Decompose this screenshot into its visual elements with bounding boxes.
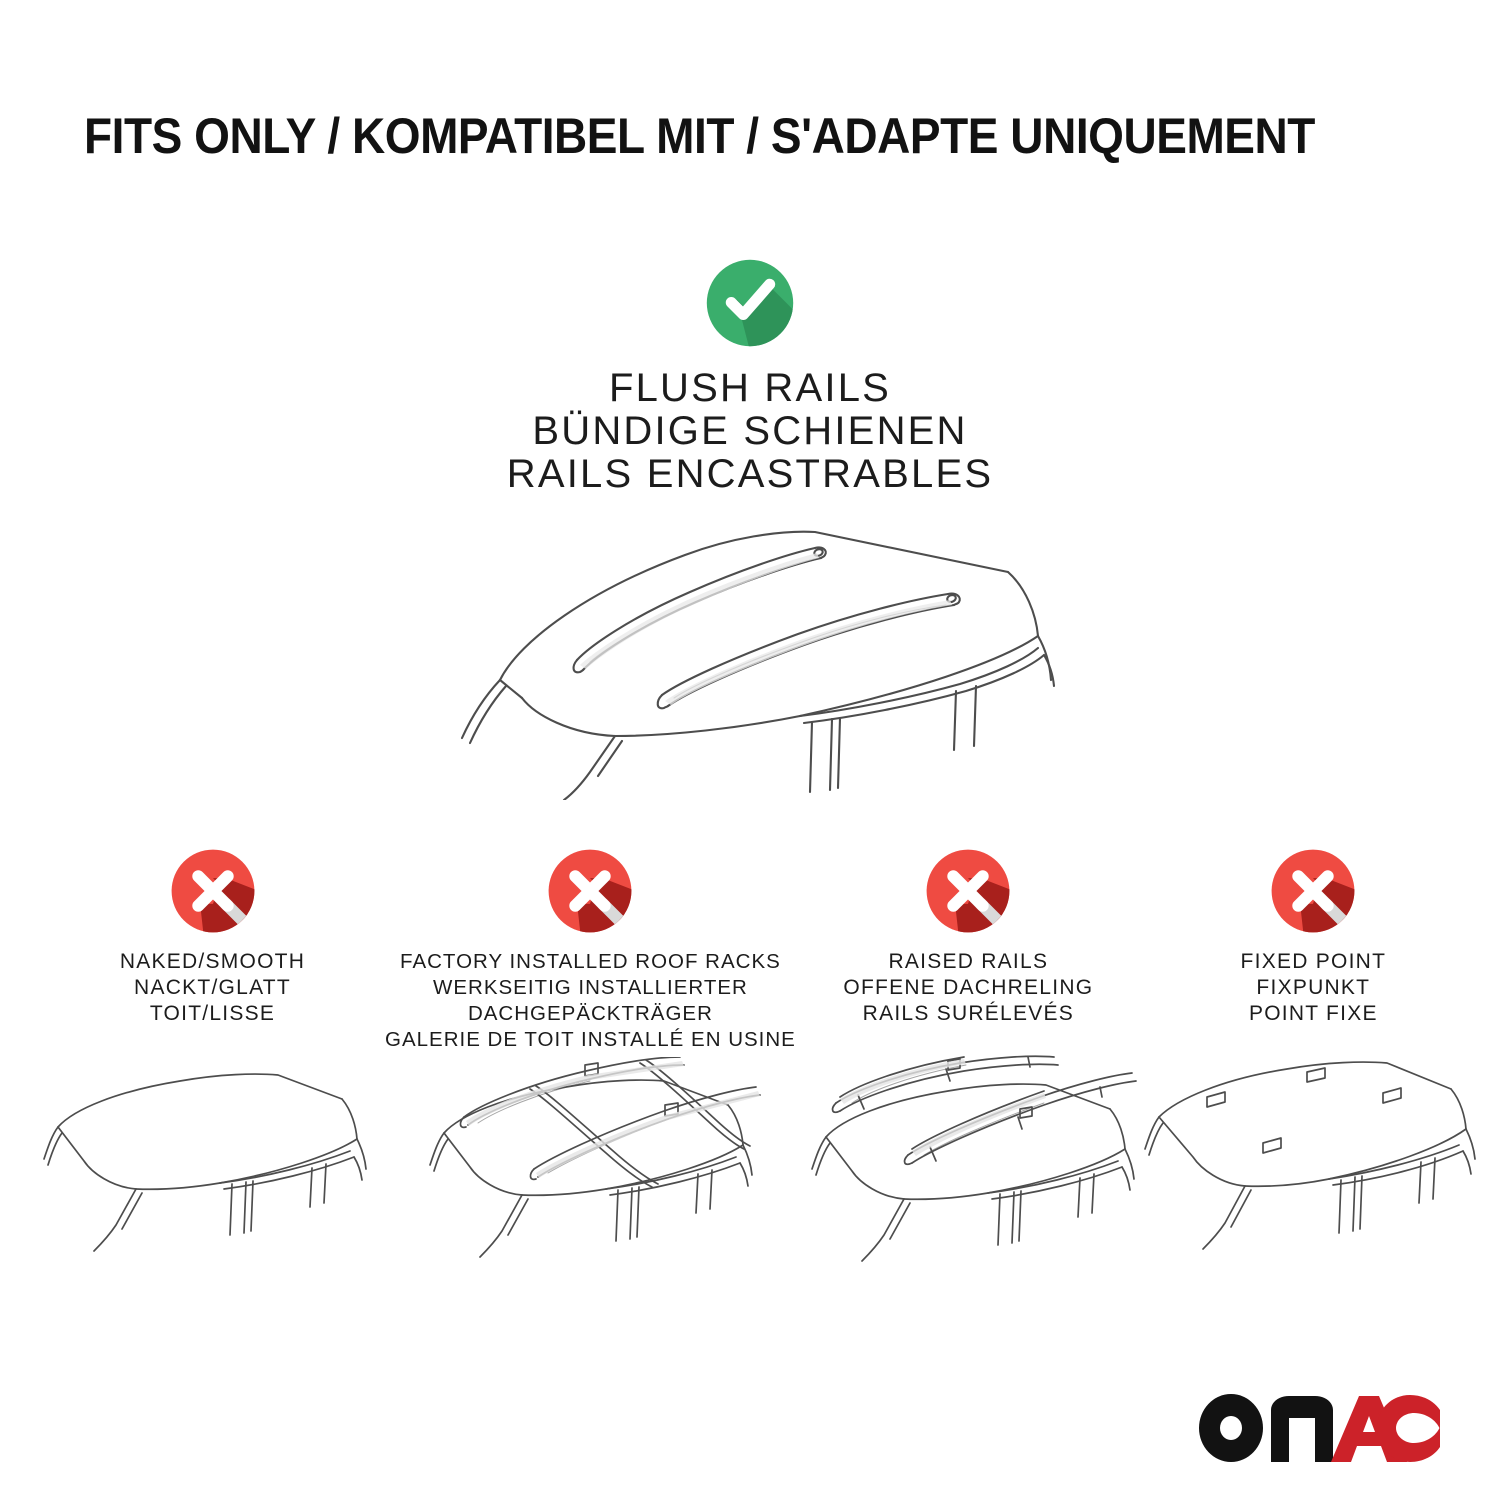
incompatible-item-fixed-point: FIXED POINT FIXPUNKT POINT FIXE <box>1141 845 1486 1297</box>
incompatible-label-de-1: WERKSEITIG INSTALLIERTER <box>385 975 796 1001</box>
car-roof-fixed-point-illustration <box>1141 1055 1486 1290</box>
fitment-compatibility-infographic: FITS ONLY / KOMPATIBEL MIT / S'ADAPTE UN… <box>0 0 1500 1500</box>
incompatible-item-factory-roof-racks: FACTORY INSTALLED ROOF RACKS WERKSEITIG … <box>385 845 796 1297</box>
car-roof-factory-roof-racks-illustration <box>418 1057 763 1292</box>
car-roof-flush-rails-illustration <box>440 510 1060 800</box>
omac-logo <box>1197 1392 1442 1464</box>
incompatible-label-de: OFFENE DACHRELING <box>843 975 1093 1001</box>
compatible-label-de: BÜNDIGE SCHIENEN <box>0 410 1500 453</box>
car-roof-raised-rails-illustration <box>796 1055 1141 1290</box>
page-title: FITS ONLY / KOMPATIBEL MIT / S'ADAPTE UN… <box>84 107 1317 165</box>
incompatible-label-group: RAISED RAILS OFFENE DACHRELING RAILS SUR… <box>843 949 1093 1027</box>
red-x-circle-icon <box>1267 845 1359 937</box>
incompatible-label-fr: TOIT/LISSE <box>120 1001 305 1027</box>
car-roof-naked-illustration <box>40 1055 385 1290</box>
incompatible-label-en: FIXED POINT <box>1241 949 1387 975</box>
incompatible-item-raised-rails: RAISED RAILS OFFENE DACHRELING RAILS SUR… <box>796 845 1141 1297</box>
incompatible-section: NAKED/SMOOTH NACKT/GLATT TOIT/LISSE <box>40 845 1460 1297</box>
incompatible-label-en: FACTORY INSTALLED ROOF RACKS <box>385 949 796 975</box>
incompatible-item-naked-smooth: NAKED/SMOOTH NACKT/GLATT TOIT/LISSE <box>40 845 385 1297</box>
compatible-label-group: FLUSH RAILS BÜNDIGE SCHIENEN RAILS ENCAS… <box>0 367 1500 496</box>
compatible-section: FLUSH RAILS BÜNDIGE SCHIENEN RAILS ENCAS… <box>0 255 1500 800</box>
incompatible-label-de: NACKT/GLATT <box>120 975 305 1001</box>
incompatible-label-en: RAISED RAILS <box>843 949 1093 975</box>
incompatible-label-de-2: DACHGEPÄCKTRÄGER <box>385 1001 796 1027</box>
red-x-circle-icon <box>167 845 259 937</box>
incompatible-label-group: FIXED POINT FIXPUNKT POINT FIXE <box>1241 949 1387 1027</box>
green-check-circle-icon <box>702 255 798 351</box>
red-x-circle-icon <box>922 845 1014 937</box>
brand-name: OMAC <box>0 0 1 1</box>
incompatible-label-en: NAKED/SMOOTH <box>120 949 305 975</box>
compatible-label-fr: RAILS ENCASTRABLES <box>0 453 1500 496</box>
incompatible-label-fr: GALERIE DE TOIT INSTALLÉ EN USINE <box>385 1027 796 1053</box>
red-x-circle-icon <box>544 845 636 937</box>
incompatible-label-fr: RAILS SURÉLEVÉS <box>843 1001 1093 1027</box>
incompatible-label-group: NAKED/SMOOTH NACKT/GLATT TOIT/LISSE <box>120 949 305 1027</box>
incompatible-label-fr: POINT FIXE <box>1241 1001 1387 1027</box>
incompatible-label-group: FACTORY INSTALLED ROOF RACKS WERKSEITIG … <box>385 949 796 1053</box>
compatible-label-en: FLUSH RAILS <box>0 367 1500 410</box>
incompatible-label-de: FIXPUNKT <box>1241 975 1387 1001</box>
